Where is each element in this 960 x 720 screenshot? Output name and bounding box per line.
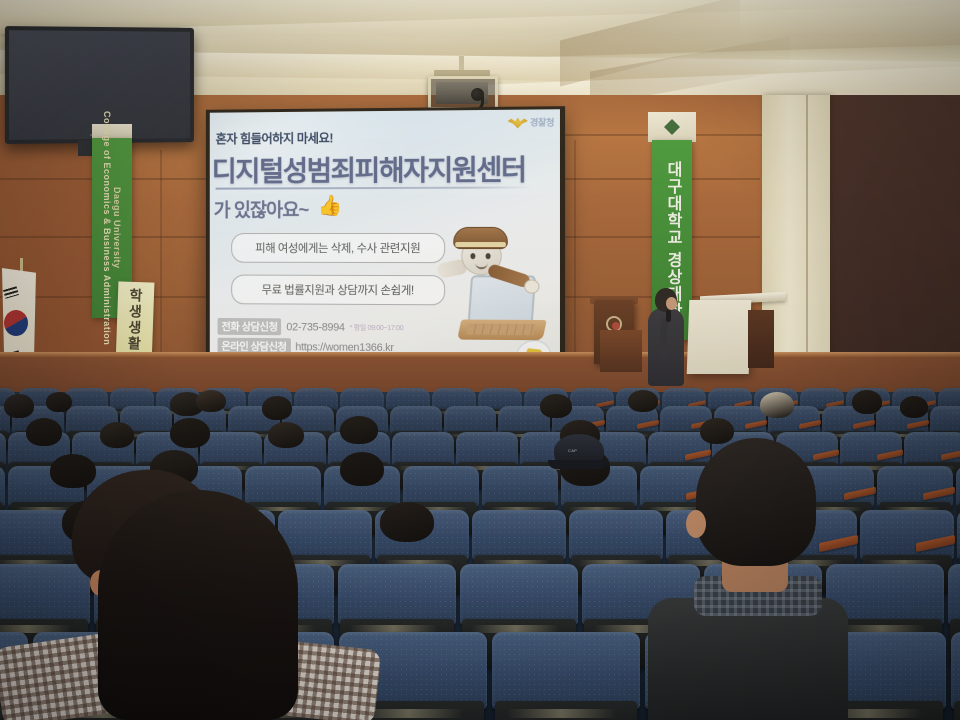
cap-logo-text: CAP bbox=[568, 448, 577, 453]
seat-fabric-texture bbox=[392, 432, 454, 466]
mascot-hand bbox=[524, 279, 539, 293]
seat-fabric-texture bbox=[569, 510, 663, 560]
seat-pan bbox=[954, 701, 960, 720]
mascot-laptop-keyboard bbox=[466, 324, 535, 336]
police-logo-text: 경찰청 bbox=[530, 115, 554, 128]
mascot-eye bbox=[470, 253, 475, 259]
seat-back bbox=[472, 510, 566, 560]
attendee-head bbox=[46, 392, 72, 412]
police-mascot-illustration bbox=[435, 223, 545, 342]
foreground-attendee-left bbox=[40, 470, 340, 720]
attendee-head bbox=[26, 418, 62, 446]
seat-back bbox=[392, 432, 454, 466]
attendee-head bbox=[628, 390, 658, 412]
seat-fabric-texture bbox=[948, 564, 960, 625]
seat-back bbox=[0, 466, 5, 507]
seat-back bbox=[930, 406, 960, 434]
contact-note: * 평일 09:00~17:00 bbox=[350, 322, 404, 332]
attendee-head bbox=[696, 438, 816, 566]
attendee-head bbox=[196, 390, 226, 412]
slide-title: 디지털성범죄피해자지원센터 bbox=[212, 148, 526, 190]
seat-back bbox=[877, 466, 953, 507]
seat-highlight bbox=[507, 709, 617, 718]
attendee-head bbox=[340, 452, 384, 486]
seat-back bbox=[460, 564, 578, 625]
presenter-face bbox=[666, 297, 677, 310]
mascot-cap-band bbox=[455, 242, 506, 247]
podium-side-panel bbox=[748, 310, 774, 368]
police-eagle-icon bbox=[508, 116, 528, 128]
thumbs-up-icon: 👍 bbox=[317, 195, 339, 217]
seat-fabric-texture bbox=[877, 466, 953, 507]
attendee-head bbox=[170, 418, 210, 448]
slide-bullet: 피해 여성에게는 삭제, 수사 관련지원 bbox=[231, 233, 445, 263]
seat-fabric-texture bbox=[930, 406, 960, 434]
seat-back bbox=[338, 564, 456, 625]
seat-fabric-texture bbox=[482, 466, 558, 507]
banner-line-2: Daegu University bbox=[112, 187, 122, 269]
attendee-body bbox=[648, 598, 848, 720]
seat-fabric-texture bbox=[390, 406, 442, 434]
seat-fabric-texture bbox=[0, 466, 5, 507]
stage-edge bbox=[0, 352, 960, 357]
contact-value: 02-735-8994 bbox=[286, 321, 344, 333]
attendee-ear bbox=[686, 510, 706, 538]
attendee-head bbox=[268, 422, 304, 448]
slide-subtitle: 혼자 힘들어하지 마세요! bbox=[216, 127, 333, 147]
auditorium-scene: College of Economics & Business Administ… bbox=[0, 0, 960, 720]
auditorium-seat[interactable] bbox=[951, 632, 960, 720]
cap-brim bbox=[548, 460, 608, 469]
seat-fabric-texture bbox=[456, 432, 518, 466]
attendee-head bbox=[340, 416, 378, 444]
attendee-head bbox=[900, 396, 928, 418]
attendee-head bbox=[262, 396, 292, 420]
seat-fabric-texture bbox=[0, 432, 6, 466]
attendee-head bbox=[380, 502, 434, 542]
seat-fabric-texture bbox=[472, 510, 566, 560]
seat-back bbox=[904, 432, 960, 466]
attendee-head bbox=[760, 392, 794, 418]
seat-fabric-texture bbox=[444, 406, 496, 434]
projection-screen: 경찰청 혼자 힘들어하지 마세요! 디지털성범죄피해자지원센터 가 있잖아요~ … bbox=[210, 109, 560, 365]
seat-fabric-texture bbox=[338, 564, 456, 625]
attendee-long-hair bbox=[98, 490, 298, 720]
pillar-edge bbox=[806, 95, 808, 395]
projection-screen-frame: 경찰청 혼자 힘들어하지 마세요! 디지털성범죄피해자지원센터 가 있잖아요~ … bbox=[206, 106, 565, 370]
foreground-attendee-right bbox=[660, 438, 850, 720]
attendee-head bbox=[852, 390, 882, 414]
seat-back bbox=[951, 632, 960, 709]
attendee-head bbox=[540, 394, 572, 418]
mascot-eye bbox=[486, 253, 491, 259]
seat-fabric-texture bbox=[904, 432, 960, 466]
flag-taegeuk bbox=[4, 310, 28, 336]
seat-fabric-texture bbox=[403, 466, 479, 507]
contact-tag: 전화 상담신청 bbox=[218, 318, 282, 335]
speaker-podium bbox=[687, 300, 752, 374]
seat-back bbox=[482, 466, 558, 507]
seat-back bbox=[956, 466, 960, 507]
seat-fabric-texture bbox=[951, 632, 960, 709]
microphone-icon bbox=[666, 310, 671, 322]
seat-back bbox=[569, 510, 663, 560]
attendee-head bbox=[4, 394, 34, 418]
stage-chair bbox=[600, 330, 642, 372]
contact-row-phone: 전화 상담신청 02-735-8994 * 평일 09:00~17:00 bbox=[218, 318, 404, 336]
seat-back bbox=[492, 632, 640, 709]
seat-back bbox=[860, 510, 954, 560]
seat-back bbox=[456, 432, 518, 466]
auditorium-seat[interactable] bbox=[492, 632, 640, 720]
seat-fabric-texture bbox=[956, 466, 960, 507]
seat-back bbox=[403, 466, 479, 507]
seat-fabric-texture bbox=[860, 510, 954, 560]
presenter bbox=[646, 288, 686, 386]
slide-bullet: 무료 법률지원과 상담까지 손쉽게! bbox=[231, 275, 445, 306]
slide-tagline: 가 있잖아요~ bbox=[214, 195, 309, 222]
seat-back bbox=[444, 406, 496, 434]
attendee-with-cap: CAP bbox=[548, 434, 610, 480]
seat-back bbox=[0, 432, 6, 466]
seat-fabric-texture bbox=[460, 564, 578, 625]
police-agency-logo: 경찰청 bbox=[508, 115, 554, 129]
banner-line-1: College of Economics & Business Administ… bbox=[102, 111, 112, 345]
seat-fabric-texture bbox=[492, 632, 640, 709]
seat-back bbox=[390, 406, 442, 434]
seat-back bbox=[948, 564, 960, 625]
acoustic-wall-panel bbox=[828, 95, 960, 395]
attendee-head bbox=[100, 422, 134, 448]
